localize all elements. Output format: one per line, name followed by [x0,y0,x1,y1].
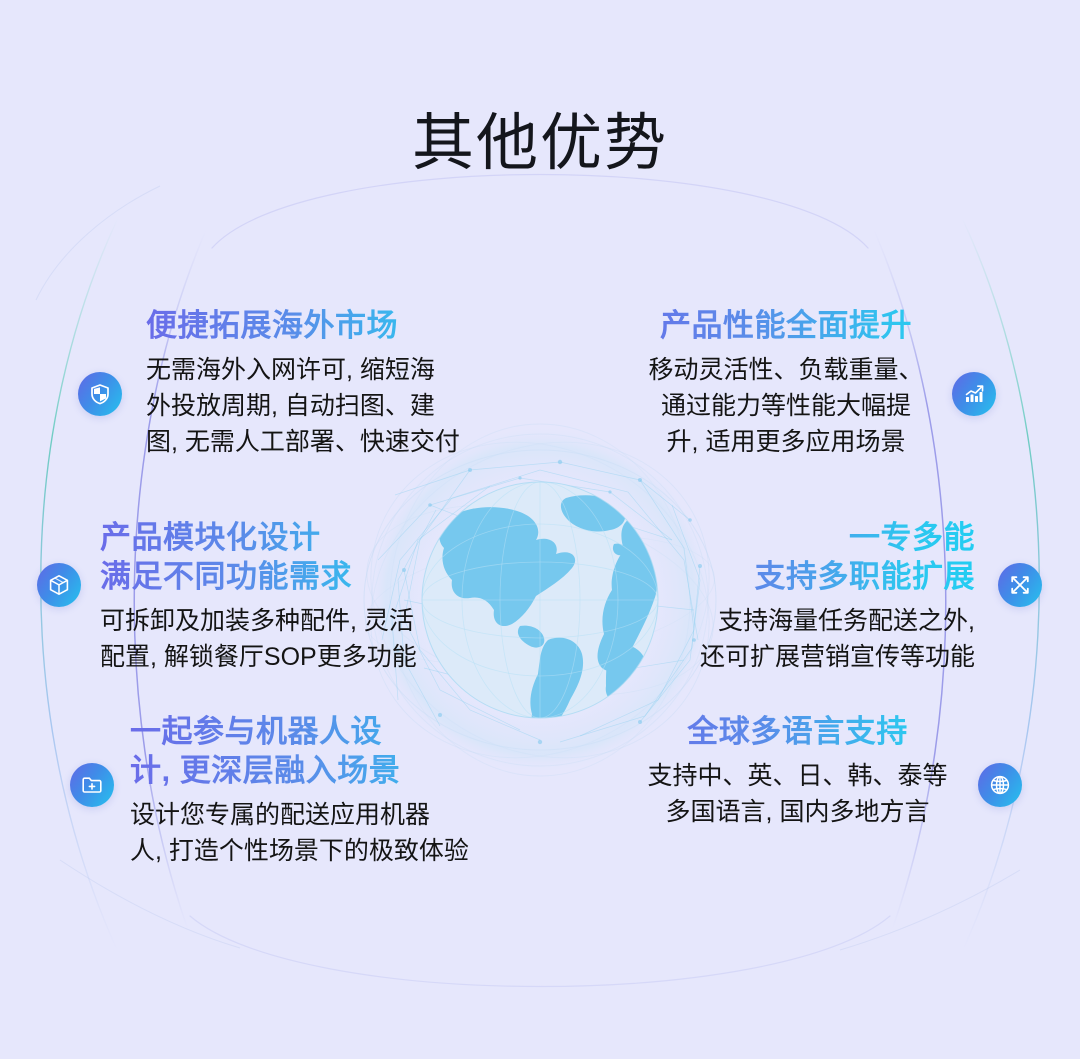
feature-heading-co-design: 一起参与机器人设 计, 更深层融入场景 [130,712,560,790]
feature-heading-multi-function: 一专多能 支持多职能扩展 [630,518,975,596]
globe-icon [978,763,1022,807]
expand-arrows-icon [998,563,1042,607]
feature-body-overseas-market: 无需海外入网许可, 缩短海 外投放周期, 自动扫图、建 图, 无需人工部署、快速… [146,352,506,460]
feature-block-multi-language: 全球多语言支持 支持中、英、日、韩、泰等 多国语言, 国内多地方言 [620,712,975,830]
feature-block-overseas-market: 便捷拓展海外市场 无需海外入网许可, 缩短海 外投放周期, 自动扫图、建 图, … [146,306,506,460]
folder-plus-icon [70,763,114,807]
feature-body-multi-function: 支持海量任务配送之外, 还可扩展营销宣传等功能 [630,603,975,675]
feature-block-co-design: 一起参与机器人设 计, 更深层融入场景 设计您专属的配送应用机器 人, 打造个性… [130,712,560,869]
feature-body-multi-language: 支持中、英、日、韩、泰等 多国语言, 国内多地方言 [620,758,975,830]
feature-block-multi-function: 一专多能 支持多职能扩展 支持海量任务配送之外, 还可扩展营销宣传等功能 [630,518,975,675]
feature-heading-multi-language: 全球多语言支持 [620,712,975,751]
feature-heading-performance-upgrade: 产品性能全面提升 [600,306,972,345]
feature-block-performance-upgrade: 产品性能全面提升 移动灵活性、负载重量、 通过能力等性能大幅提 升, 适用更多应… [600,306,972,460]
feature-heading-modular-design: 产品模块化设计 满足不同功能需求 [100,518,460,596]
cube-icon [37,563,81,607]
feature-body-co-design: 设计您专属的配送应用机器 人, 打造个性场景下的极致体验 [130,797,560,869]
feature-block-modular-design: 产品模块化设计 满足不同功能需求 可拆卸及加装多种配件, 灵活 配置, 解锁餐厅… [100,518,460,675]
shield-icon [78,372,122,416]
feature-heading-overseas-market: 便捷拓展海外市场 [146,306,506,345]
growth-chart-icon [952,372,996,416]
feature-body-performance-upgrade: 移动灵活性、负载重量、 通过能力等性能大幅提 升, 适用更多应用场景 [600,352,972,460]
page-title: 其他优势 [0,108,1080,180]
feature-body-modular-design: 可拆卸及加装多种配件, 灵活 配置, 解锁餐厅SOP更多功能 [100,603,460,675]
infographic-canvas: 其他优势 便捷拓展海外市场 无需海外入网许可, 缩短海 外投放周期, 自动扫图、… [0,0,1080,1059]
